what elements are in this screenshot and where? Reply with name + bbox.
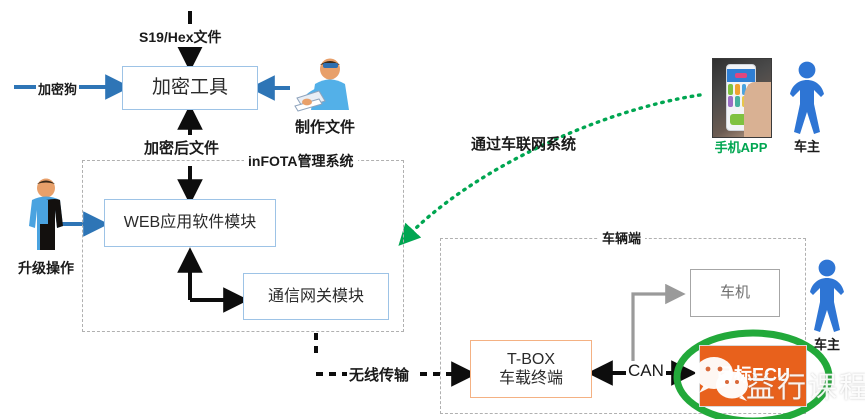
phone-app-banner	[727, 69, 755, 82]
node-target-ecu-label: 目标ECU	[716, 365, 790, 387]
person-pictogram-icon	[806, 258, 848, 334]
actor-upgrade-operator-caption: 升级操作	[18, 258, 74, 278]
phone-photo	[712, 58, 772, 138]
actor-file-maker: 制作文件	[287, 58, 363, 136]
actor-car-owner-top: 车主	[786, 60, 828, 156]
edge-label-encrypted-file: 加密后文件	[142, 137, 221, 158]
node-encrypt-tool[interactable]: 加密工具	[122, 66, 258, 110]
group-vehicle-end-label: 车辆端	[598, 228, 645, 247]
node-tbox-label-line2: 车载终端	[499, 369, 563, 388]
edge-label-telematics: 通过车联网系统	[469, 133, 578, 154]
node-web-module[interactable]: WEB应用软件模块	[104, 199, 276, 247]
actor-mobile-app: 手机APP	[712, 58, 774, 158]
edge-label-wireless: 无线传输	[347, 364, 411, 385]
edge-label-s19hex: S19/Hex文件	[137, 27, 223, 47]
actor-mobile-app-caption: 手机APP	[715, 137, 768, 156]
node-tbox-label-line1: T-BOX	[507, 350, 555, 369]
node-head-unit[interactable]: 车机	[690, 269, 780, 317]
person-pictogram-icon	[786, 60, 828, 136]
node-gateway-module-label: 通信网关模块	[268, 287, 364, 306]
person-laptop-icon	[287, 58, 363, 116]
node-web-module-label: WEB应用软件模块	[124, 213, 256, 232]
person-3d-icon	[18, 178, 74, 258]
node-gateway-module[interactable]: 通信网关模块	[243, 273, 389, 320]
hand-holding-phone	[744, 82, 771, 137]
edge-label-can-bus: CAN	[626, 361, 666, 381]
edge-label-dongle: 加密狗	[36, 79, 79, 98]
actor-car-owner-top-caption: 车主	[794, 136, 820, 155]
node-target-ecu[interactable]: 目标ECU	[699, 345, 807, 407]
group-infota-system-label: inFOTA管理系统	[244, 151, 358, 171]
edge-telematics	[404, 95, 700, 240]
actor-upgrade-operator: 升级操作	[18, 178, 74, 276]
actor-car-owner-vehicle: 车主	[806, 258, 848, 354]
actor-file-maker-caption: 制作文件	[295, 116, 355, 137]
node-head-unit-label: 车机	[720, 284, 750, 302]
actor-car-owner-vehicle-caption: 车主	[814, 334, 840, 353]
diagram-canvas: inFOTA管理系统 车辆端 加密工具 WEB应用软件模块 通信网关模块 T-B…	[0, 0, 865, 419]
node-encrypt-tool-label: 加密工具	[152, 77, 228, 100]
node-tbox[interactable]: T-BOX 车载终端	[470, 340, 592, 398]
